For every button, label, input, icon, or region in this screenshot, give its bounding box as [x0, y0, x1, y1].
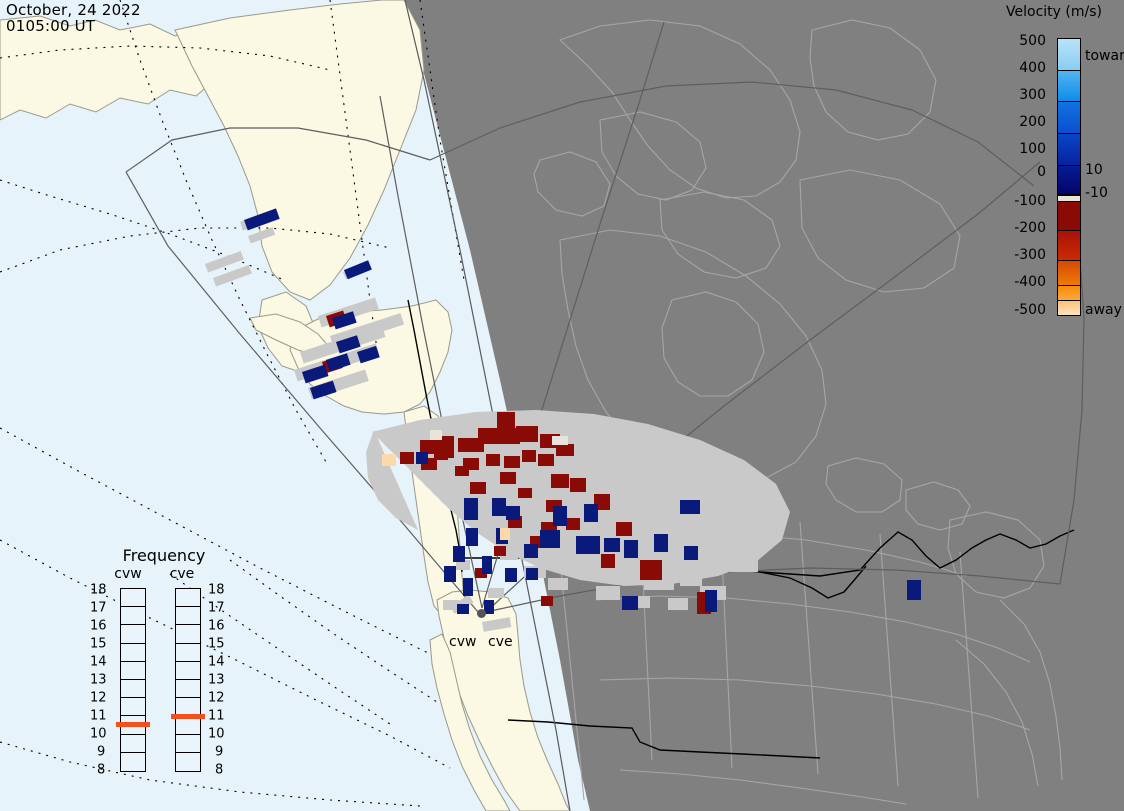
frequency-scale-cvw: [120, 588, 146, 772]
freq-tick-cve-8: 8: [215, 763, 223, 778]
frequency-panel: Frequency cvw 18 17 16 15 14 13 12 11 10…: [84, 546, 244, 792]
freq-tick-cvw-13: 13: [90, 673, 107, 688]
colorbar-segment-10-100: [1058, 166, 1080, 195]
freq-row: [176, 644, 200, 662]
freq-tick-cvw-12: 12: [90, 691, 107, 706]
freq-tick-cvw-17: 17: [90, 601, 107, 616]
freq-row: [121, 680, 145, 698]
timestamp-overlay: October, 24 2022 0105:00 UT: [6, 2, 141, 34]
colorbar-tick-400: 400: [1019, 60, 1046, 76]
colorbar-segment-200-300: [1058, 102, 1080, 134]
freq-row: [176, 607, 200, 625]
velocity-colorbar: Velocity (m/s) 500 400 300 200 100 0 -10…: [984, 0, 1124, 330]
radar-site-dot: [477, 609, 486, 618]
colorbar-tick-neg200: -200: [1014, 220, 1046, 236]
freq-row: [121, 698, 145, 716]
freq-row: [121, 589, 145, 607]
colorbar-tick-neg500: -500: [1014, 302, 1046, 318]
freq-row: [121, 607, 145, 625]
freq-tick-cve-18: 18: [208, 583, 225, 598]
colorbar-segment-100-200: [1058, 134, 1080, 166]
freq-tick-cvw-10: 10: [90, 727, 107, 742]
colorbar-label-away: away: [1085, 302, 1122, 318]
colorbar-tick-200: 200: [1019, 114, 1046, 130]
colorbar-segment-neg400-neg300: [1058, 286, 1080, 301]
freq-row: [176, 753, 200, 771]
freq-row: [176, 625, 200, 643]
site-label-cve: cve: [488, 634, 513, 650]
freq-tick-cve-12: 12: [208, 691, 225, 706]
freq-tick-cve-11: 11: [208, 709, 225, 724]
colorbar-label-negative-threshold: -10: [1085, 185, 1108, 201]
colorbar-tick-100: 100: [1019, 141, 1046, 157]
colorbar-segment-neg300-neg200: [1058, 261, 1080, 286]
freq-tick-cve-10: 10: [208, 727, 225, 742]
freq-tick-cve-9: 9: [215, 745, 223, 760]
freq-tick-cvw-14: 14: [90, 655, 107, 670]
colorbar-label-positive-threshold: 10: [1085, 162, 1103, 178]
freq-row: [176, 662, 200, 680]
freq-tick-cve-13: 13: [208, 673, 225, 688]
freq-tick-cve-17: 17: [208, 601, 225, 616]
colorbar-tick-300: 300: [1019, 87, 1046, 103]
colorbar-tick-neg400: -400: [1014, 274, 1046, 290]
colorbar-tick-0: 0: [1037, 164, 1046, 180]
freq-tick-cve-16: 16: [208, 619, 225, 634]
freq-row: [176, 735, 200, 753]
freq-row: [176, 716, 200, 734]
freq-tick-cvw-11: 11: [90, 709, 107, 724]
frequency-marker-cvw: [116, 722, 150, 727]
colorbar-title: Velocity (m/s): [984, 4, 1124, 20]
frequency-panel-title: Frequency: [84, 546, 244, 565]
freq-row: [121, 644, 145, 662]
freq-row: [176, 589, 200, 607]
freq-tick-cvw-18: 18: [90, 583, 107, 598]
freq-tick-cvw-8: 8: [97, 763, 105, 778]
colorbar-segment-400-500: [1058, 39, 1080, 71]
site-label-cvw: cvw: [449, 634, 476, 650]
colorbar-tick-neg300: -300: [1014, 247, 1046, 263]
freq-tick-cvw-16: 16: [90, 619, 107, 634]
freq-tick-cvw-15: 15: [90, 637, 107, 652]
freq-row: [121, 735, 145, 753]
freq-row: [121, 753, 145, 771]
colorbar-segment-zero: [1058, 195, 1080, 202]
colorbar-tick-500: 500: [1019, 33, 1046, 49]
colorbar-tick-neg100: -100: [1014, 193, 1046, 209]
colorbar-segment-neg200-neg100: [1058, 231, 1080, 261]
freq-tick-cve-14: 14: [208, 655, 225, 670]
frequency-marker-cve: [171, 714, 205, 719]
colorbar-gradient-box: [1057, 38, 1081, 316]
frequency-scale-cve: [175, 588, 201, 772]
colorbar-segment-300-400: [1058, 71, 1080, 103]
freq-tick-cvw-9: 9: [97, 745, 105, 760]
colorbar-segment-neg100-neg10: [1058, 202, 1080, 231]
radar-map-screenshot: cvw cve October, 24 2022 0105:00 UT Velo…: [0, 0, 1124, 811]
frequency-column-label-cvw: cvw: [108, 566, 148, 582]
colorbar-label-toward: toward: [1085, 48, 1124, 64]
frequency-column-label-cve: cve: [162, 566, 202, 582]
freq-row: [176, 680, 200, 698]
colorbar-segment-neg500-neg400: [1058, 301, 1080, 315]
freq-row: [121, 662, 145, 680]
freq-tick-cve-15: 15: [208, 637, 225, 652]
freq-row: [121, 625, 145, 643]
